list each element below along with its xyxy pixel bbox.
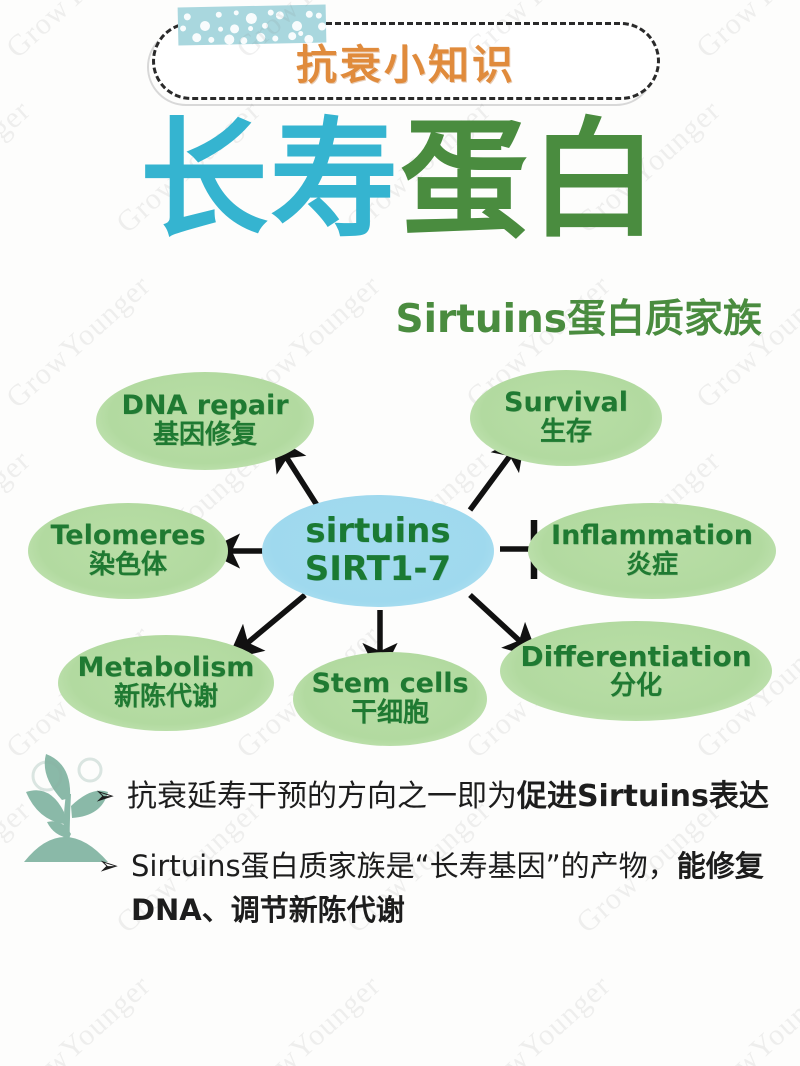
bullet-text-2: Sirtuins蛋白质家族是“长寿基因”的产物，能修复DNA、调节新陈代谢 (131, 844, 800, 932)
tape-dot (272, 35, 278, 41)
sirtuins-diagram: sirtuins SIRT1-7 DNA repair 基因修复 Surviva… (0, 355, 800, 755)
node-zh-label: 分化 (610, 672, 662, 701)
title-part-cyan: 长寿 (140, 106, 400, 255)
watermark-text: GrowYounger (0, 969, 157, 1066)
tape-dot (234, 10, 239, 15)
header: 抗衰小知识 (0, 0, 800, 118)
tape-dot (304, 35, 313, 44)
watermark-text: GrowYounger (460, 969, 617, 1066)
tape-dot (218, 27, 223, 32)
node-en-label: Differentiation (520, 642, 751, 671)
list-item: ➢ 抗衰延寿干预的方向之一即为促进Sirtuins表达 (94, 774, 800, 820)
node-en-label: Stem cells (311, 670, 468, 698)
page-title: 长寿蛋白 (0, 112, 800, 250)
tape-dot (184, 13, 191, 20)
diagram-node-center[interactable]: sirtuins SIRT1-7 (262, 495, 494, 607)
node-zh-label: 新陈代谢 (114, 683, 218, 712)
tape-dot (248, 26, 253, 31)
diagram-node-stem-cells[interactable]: Stem cells 干细胞 (293, 652, 487, 746)
tape-dot (192, 33, 201, 42)
node-en-label: Telomeres (50, 522, 205, 550)
watermark-text: GrowYounger (230, 969, 387, 1066)
tape-dot (298, 31, 303, 36)
diagram-node-dna-repair[interactable]: DNA repair 基因修复 (96, 372, 314, 470)
diagram-node-telomeres[interactable]: Telomeres 染色体 (28, 503, 228, 599)
poster-root: GrowYoungerGrowYoungerGrowYoungerGrowYou… (0, 0, 800, 1066)
node-en-label: Survival (504, 389, 628, 417)
tape-dot (230, 24, 239, 33)
bullet-marker: ➢ (98, 853, 119, 878)
tape-dot (240, 37, 247, 44)
node-en-label: Inflammation (551, 522, 753, 550)
diagram-node-metabolism[interactable]: Metabolism 新陈代谢 (58, 635, 274, 731)
tape-dot (262, 23, 268, 29)
page-subtitle: Sirtuins蛋白质家族 (0, 288, 762, 344)
diagram-node-differentiation[interactable]: Differentiation 分化 (500, 621, 772, 721)
tape-dot (216, 12, 222, 18)
node-en-label: Metabolism (78, 654, 255, 682)
tape-dot (246, 13, 257, 24)
center-line-1: sirtuins (305, 514, 450, 550)
node-zh-label: 基因修复 (153, 421, 257, 450)
tape-dot (276, 11, 284, 19)
diagram-node-survival[interactable]: Survival 生存 (470, 370, 662, 466)
watermark-text: GrowYounger (690, 969, 800, 1066)
tape-dot (256, 33, 265, 42)
node-zh-label: 炎症 (626, 551, 678, 580)
node-zh-label: 生存 (540, 418, 592, 447)
tape-dot (306, 11, 313, 18)
node-zh-label: 干细胞 (351, 699, 429, 728)
tape-dot (200, 21, 210, 31)
tape-dot (224, 34, 234, 44)
washi-tape-icon (178, 4, 327, 45)
key-points: ➢ 抗衰延寿干预的方向之一即为促进Sirtuins表达 ➢ Sirtuins蛋白… (0, 748, 800, 932)
tape-dot (318, 22, 326, 30)
bullet-text-1: 抗衰延寿干预的方向之一即为促进Sirtuins表达 (127, 774, 769, 820)
tape-dot (208, 37, 214, 43)
tape-dot (316, 13, 322, 19)
tape-dot (292, 21, 302, 31)
diagram-node-inflammation[interactable]: Inflammation 炎症 (528, 503, 776, 599)
tape-dot (288, 32, 296, 40)
title-part-green: 蛋白 (400, 106, 660, 255)
bullet-marker: ➢ (94, 783, 115, 808)
list-item: ➢ Sirtuins蛋白质家族是“长寿基因”的产物，能修复DNA、调节新陈代谢 (98, 844, 800, 932)
center-line-2: SIRT1-7 (305, 551, 451, 588)
node-en-label: DNA repair (121, 392, 288, 420)
tape-dot (268, 10, 274, 16)
node-zh-label: 染色体 (89, 551, 167, 580)
tape-dot (180, 25, 186, 31)
